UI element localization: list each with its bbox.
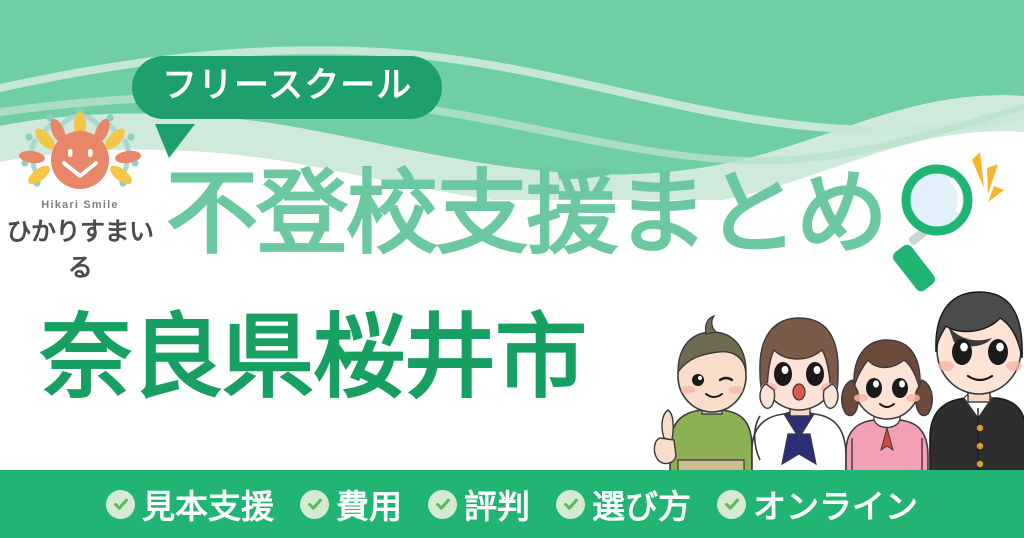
four-students-illustration	[648, 288, 1024, 473]
category-badge: フリースクール	[132, 56, 442, 119]
check-circle-icon	[556, 490, 585, 519]
student-boy-gakuran	[930, 292, 1024, 473]
keyword-item[interactable]: 選び方	[556, 480, 691, 528]
hero-banner: Hikari Smile ひかりすまいる フリースクール 不登校支援まとめ 奈良…	[0, 0, 1024, 538]
keyword-item[interactable]: 費用	[300, 480, 402, 528]
headline-location: 奈良県桜井市	[40, 312, 586, 404]
keyword-label: 選び方	[592, 480, 691, 528]
magnifying-glass-icon	[884, 152, 1004, 297]
student-boy-green	[654, 316, 752, 473]
sparkle-rays-icon	[972, 152, 1004, 202]
check-circle-icon	[717, 490, 746, 519]
logo: Hikari Smile ひかりすまいる	[4, 103, 156, 243]
check-circle-icon	[106, 490, 135, 519]
headline-primary: 不登校支援まとめ	[166, 168, 886, 260]
keyword-label: 評判	[464, 480, 530, 528]
logo-name-jp: ひかりすまいる	[4, 212, 156, 284]
student-girl-pink	[842, 340, 933, 473]
keyword-item[interactable]: オンライン	[717, 480, 918, 528]
keyword-label: 費用	[336, 480, 402, 528]
magnifier-handle	[891, 227, 938, 294]
keyword-bar: 見本支援 費用 評判 選び方	[0, 470, 1024, 538]
student-girl-sailor	[752, 318, 846, 473]
check-circle-icon	[428, 490, 457, 519]
speech-bubble-tail	[155, 124, 195, 158]
logo-face	[51, 131, 109, 189]
check-circle-icon	[300, 490, 329, 519]
sun-smile-icon	[4, 103, 156, 203]
keyword-label: 見本支援	[142, 480, 274, 528]
sun-smile-logo-mark	[4, 103, 156, 203]
keyword-item[interactable]: 見本支援	[106, 480, 274, 528]
keyword-item[interactable]: 評判	[428, 480, 530, 528]
keyword-label: オンライン	[753, 480, 918, 528]
